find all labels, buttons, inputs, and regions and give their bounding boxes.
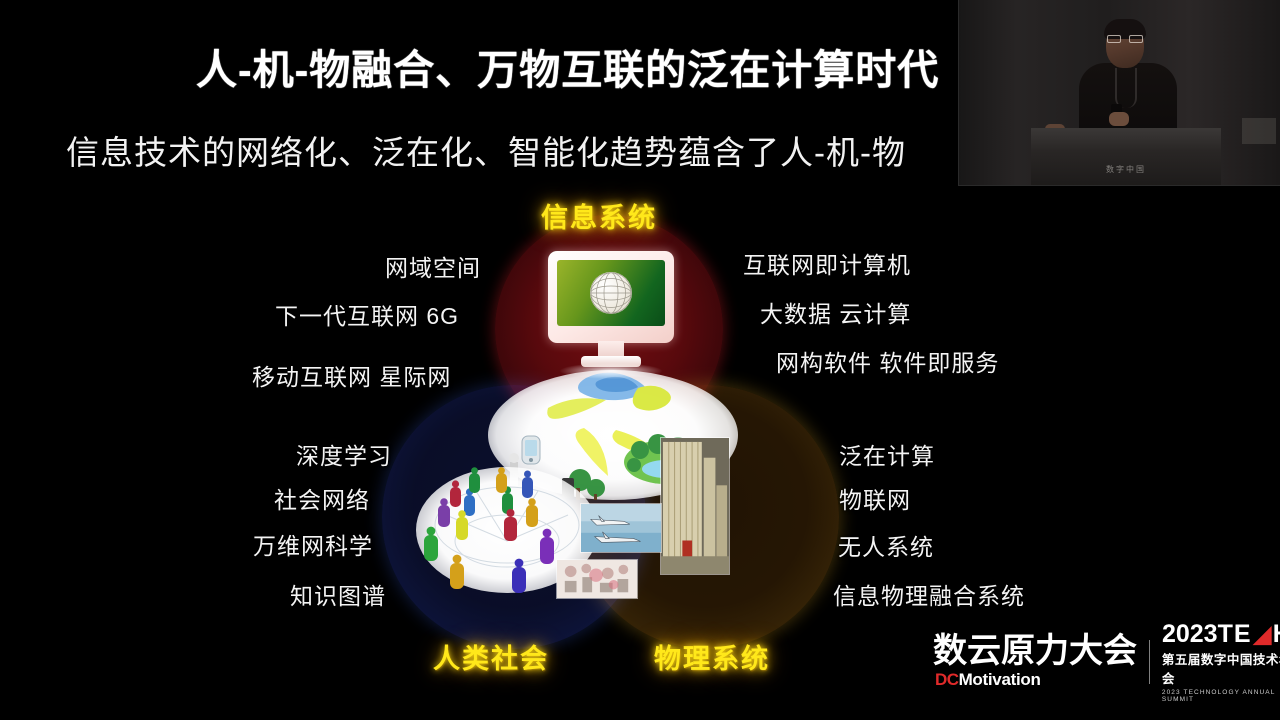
conference-logo: 数云原力大会 DC Motivation 2023 TE ◢ H 第五届数字中国… [930, 634, 1280, 690]
keyword-bottom-right-4: 信息物理融合系统 [833, 577, 1025, 611]
keyword-bottom-left-4: 知识图谱 [290, 577, 386, 611]
keyword-top-left-3: 移动互联网 星际网 [252, 358, 451, 392]
keyword-bottom-right-1: 泛在计算 [839, 437, 935, 471]
glasses-icon [1107, 35, 1143, 43]
photo-aircraft [580, 503, 662, 553]
logo-event-cn: 第五届数字中国技术年会 [1162, 649, 1280, 687]
logo-tech-tail: H [1273, 622, 1280, 647]
speaker-lanyard [1115, 68, 1137, 108]
logo-divider [1149, 640, 1150, 684]
logo-brand: 数云原力大会 DC Motivation [930, 634, 1137, 690]
logo-brand-cn: 数云原力大会 [933, 634, 1137, 668]
photo-cityscape [556, 559, 638, 599]
presentation-slide: 人-机-物融合、万物互联的泛在计算时代 信息技术的网络化、泛在化、智能化趋势蕴含… [0, 0, 1280, 720]
venn-label-information-system: 信息系统 [541, 196, 657, 235]
keyword-top-left-2: 下一代互联网 6G [275, 297, 459, 331]
keyword-top-left-1: 网域空间 [385, 249, 481, 283]
venn-label-physical-system: 物理系统 [654, 637, 770, 676]
podium-label: 数字中国 [1031, 164, 1221, 175]
logo-event: 2023 TE ◢ H 第五届数字中国技术年会 2023 TECHNOLOGY … [1162, 622, 1280, 703]
stage-screen [1242, 118, 1276, 144]
keyword-top-right-3: 网构软件 软件即服务 [776, 344, 999, 378]
keyword-bottom-left-2: 社会网络 [274, 481, 370, 515]
keyword-top-right-1: 互联网即计算机 [743, 246, 911, 280]
podium: 数字中国 [1031, 128, 1221, 186]
keyword-bottom-right-3: 无人系统 [838, 528, 934, 562]
speaker-presentation-video[interactable]: 数字中国 [958, 0, 1280, 186]
speaker-hand-right [1109, 112, 1129, 126]
keyword-top-right-2: 大数据 云计算 [760, 295, 911, 329]
keyword-bottom-right-2: 物联网 [839, 481, 911, 515]
venn-label-human-society: 人类社会 [433, 637, 549, 676]
keyword-bottom-left-3: 万维网科学 [253, 527, 373, 561]
logo-tech-text: TE [1218, 622, 1252, 647]
logo-event-en: 2023 TECHNOLOGY ANNUAL SUMMIT [1162, 689, 1280, 703]
logo-motivation-text: Motivation [959, 670, 1041, 690]
logo-year-text: 2023 [1162, 622, 1218, 647]
monitor-globe-icon [548, 251, 674, 369]
keyword-bottom-left-1: 深度学习 [296, 437, 392, 471]
spark-icon: ◢ [1253, 622, 1272, 647]
page-subtitle: 信息技术的网络化、泛在化、智能化趋势蕴含了人-机-物 [66, 126, 906, 174]
photo-skyscraper [660, 437, 730, 575]
page-title: 人-机-物融合、万物互联的泛在计算时代 [196, 36, 939, 96]
logo-dc-text: DC [935, 670, 959, 690]
